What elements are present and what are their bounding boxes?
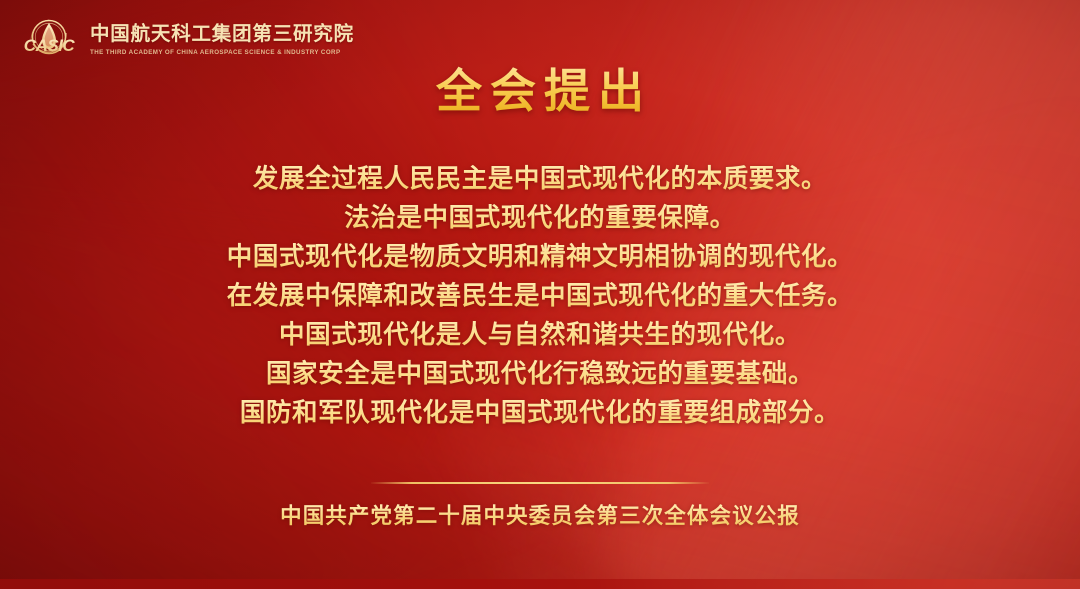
brand-name-en: THE THIRD ACADEMY OF CHINA AEROSPACE SCI… [90,48,354,57]
statement-line: 中国式现代化是物质文明和精神文明相协调的现代化。 [227,238,853,277]
background-bottom-edge [0,579,1080,589]
poster-canvas: CASIC 中国航天科工集团第三研究院 THE THIRD ACADEMY OF… [0,0,1080,589]
source-caption: 中国共产党第二十届中央委员会第三次全体会议公报 [0,503,1080,531]
statement-line: 发展全过程人民民主是中国式现代化的本质要求。 [253,160,827,199]
casic-emblem-icon: CASIC [18,14,80,64]
brand-name-cn: 中国航天科工集团第三研究院 [90,23,354,46]
statement-line: 国家安全是中国式现代化行稳致远的重要基础。 [266,355,814,394]
statement-line: 法治是中国式现代化的重要保障。 [344,199,736,238]
svg-text:CASIC: CASIC [24,36,76,55]
footer-divider [371,482,709,484]
statement-list: 发展全过程人民民主是中国式现代化的本质要求。 法治是中国式现代化的重要保障。 中… [0,160,1080,433]
statement-line: 在发展中保障和改善民生是中国式现代化的重大任务。 [227,277,853,316]
statement-line: 国防和军队现代化是中国式现代化的重要组成部分。 [240,394,840,433]
brand-lockup: CASIC 中国航天科工集团第三研究院 THE THIRD ACADEMY OF… [18,14,354,64]
statement-line: 中国式现代化是人与自然和谐共生的现代化。 [279,316,801,355]
brand-text: 中国航天科工集团第三研究院 THE THIRD ACADEMY OF CHINA… [90,21,354,57]
page-title: 全会提出 [0,64,1080,119]
